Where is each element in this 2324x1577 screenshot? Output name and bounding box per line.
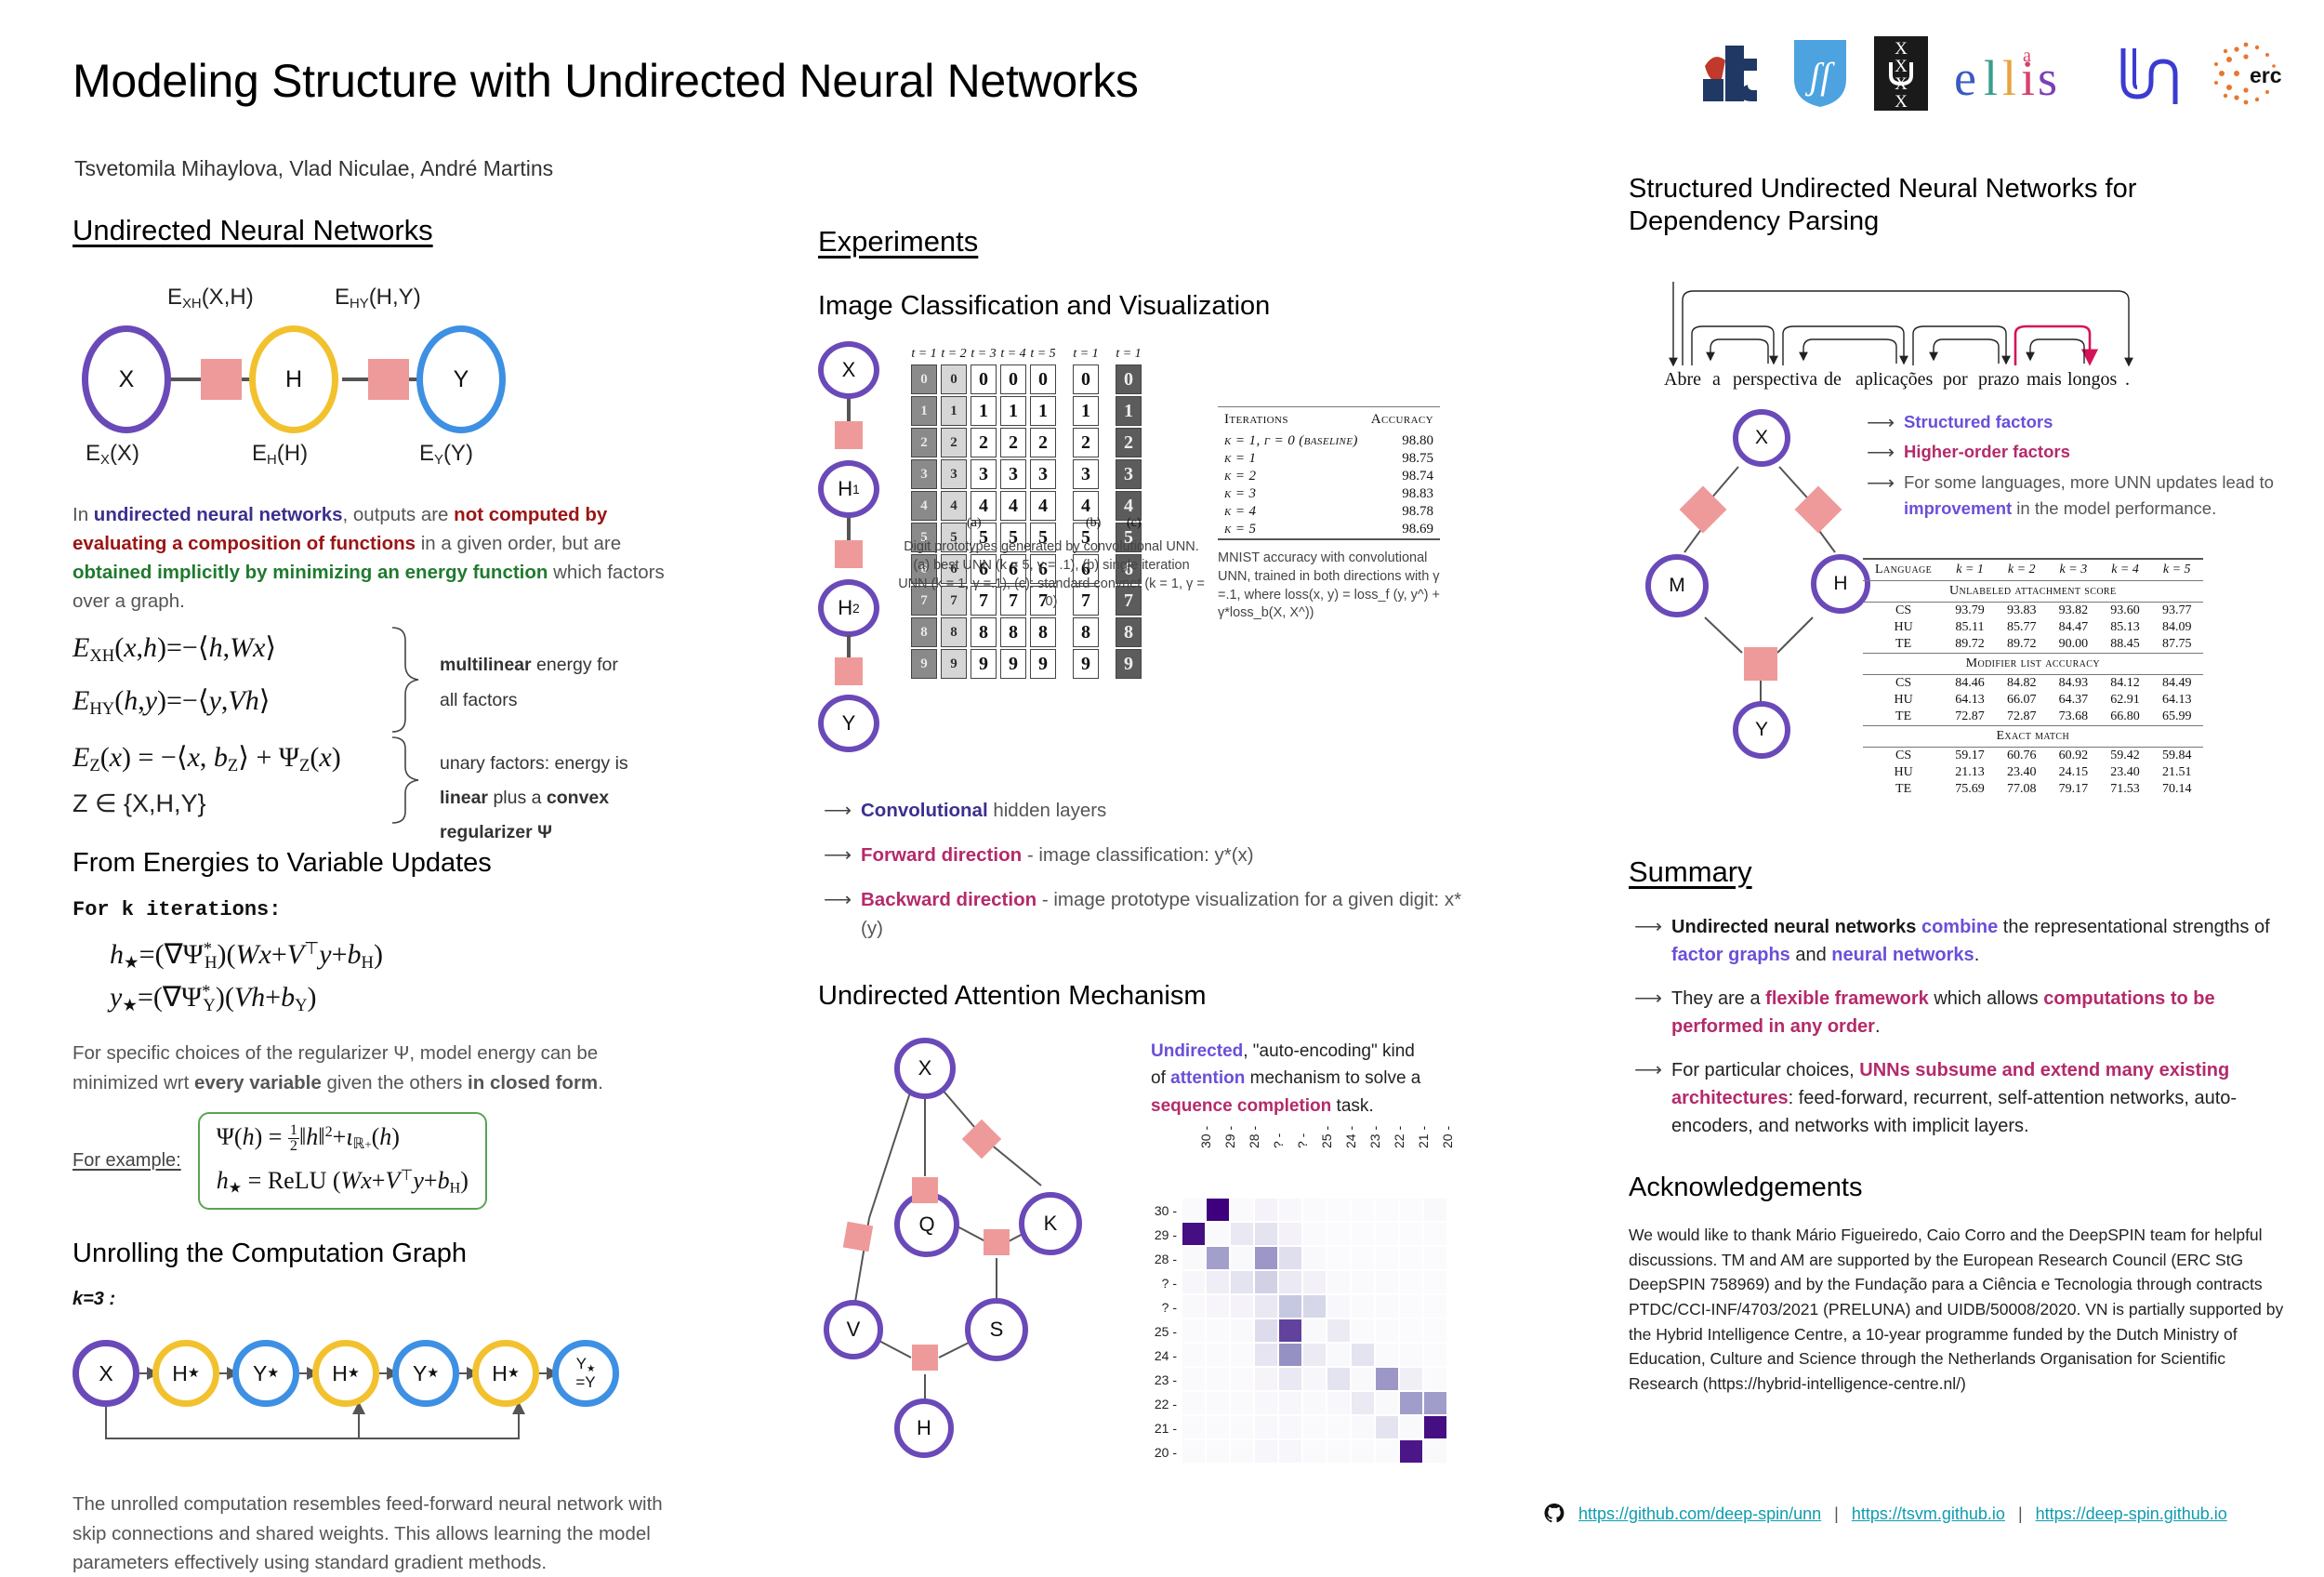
parse-language: HU bbox=[1863, 619, 1944, 636]
unroll-node-4: Y★ bbox=[392, 1340, 459, 1407]
parse-value: 87.75 bbox=[2151, 636, 2203, 654]
parse-value: 62.91 bbox=[2099, 692, 2151, 709]
heatmap-cell bbox=[1352, 1392, 1374, 1414]
mnist-digit-cell: 9 bbox=[1116, 649, 1142, 679]
author-list: Tsvetomila Mihaylova, Vlad Niculae, Andr… bbox=[74, 156, 553, 181]
heatmap-cell bbox=[1376, 1199, 1398, 1221]
parse-value: 93.79 bbox=[1944, 603, 1996, 619]
attn-node-k: K bbox=[1019, 1192, 1082, 1255]
note-line1: unary factors: energy is bbox=[440, 753, 628, 774]
heatmap-cell bbox=[1255, 1295, 1277, 1318]
mnist-digit-cell: 3 bbox=[1030, 459, 1056, 489]
logo-strip: ʃſ X X X X e l l i s bbox=[1694, 35, 2285, 112]
factor-square bbox=[1744, 647, 1777, 681]
parse-language: TE bbox=[1863, 781, 1944, 798]
parse-value: 59.17 bbox=[1944, 748, 1996, 764]
svg-text:X: X bbox=[1895, 57, 1908, 76]
parse-value: 21.13 bbox=[1944, 764, 1996, 781]
heatmap-cell bbox=[1424, 1440, 1446, 1463]
parse-node-m: M bbox=[1645, 554, 1709, 617]
heatmap-cell bbox=[1207, 1223, 1229, 1245]
heatmap-cell bbox=[1207, 1416, 1229, 1438]
parse-value: 59.84 bbox=[2151, 748, 2203, 764]
bullet-item: ⟶Higher-order factors bbox=[1861, 439, 2279, 465]
mnist-digit-cell: 9 bbox=[971, 649, 997, 679]
heatmap-ytick: 25 - bbox=[1151, 1324, 1177, 1339]
heatmap-cell bbox=[1207, 1344, 1229, 1366]
parse-value: 66.80 bbox=[2099, 709, 2151, 726]
chain-factor-graph: X H Y EXH(X,H) EHY(H,Y) EX(X) EH(H) EY(Y… bbox=[73, 272, 742, 495]
summary-bullets: ⟶Undirected neural networks combine the … bbox=[1629, 913, 2289, 1140]
mnist-digit-cell: 8 bbox=[1000, 617, 1026, 647]
brace-note-multilinear: multilinear energy for all factors bbox=[440, 652, 618, 714]
heatmap-cell bbox=[1376, 1319, 1398, 1342]
note-t1: plus a bbox=[488, 788, 547, 808]
dependency-word: Abre bbox=[1664, 369, 1701, 391]
mnist-digit-cell: 0 bbox=[1000, 364, 1026, 394]
node-label: Y bbox=[454, 366, 469, 393]
column-experiments: Experiments Image Classification and Vis… bbox=[818, 214, 1487, 1460]
mnist-digit-cell: 4 bbox=[1030, 491, 1056, 521]
for-k-iterations-label: For k iterations: bbox=[73, 898, 742, 921]
heatmap-cell bbox=[1207, 1271, 1229, 1293]
summary-bullet: ⟶For particular choices, UNNs subsume an… bbox=[1629, 1056, 2289, 1140]
erc-logo: erc bbox=[2209, 36, 2285, 111]
mnist-row: 9999999 bbox=[911, 649, 1142, 679]
edge-label-sub: XH bbox=[182, 297, 202, 311]
heatmap-cell bbox=[1376, 1295, 1398, 1318]
attn-b2: attention bbox=[1170, 1068, 1245, 1088]
svg-text:l: l bbox=[2002, 50, 2016, 106]
heatmap-cell bbox=[1255, 1199, 1277, 1221]
dependency-word: . bbox=[2125, 369, 2130, 391]
heatmap-cell bbox=[1279, 1271, 1301, 1293]
bullet-item: ⟶Convolutional hidden layers bbox=[818, 797, 1469, 826]
heatmap-cell bbox=[1424, 1199, 1446, 1221]
heatmap-cell bbox=[1327, 1223, 1350, 1245]
brace-bottom bbox=[387, 735, 424, 828]
acc-table-row: k = 398.83 bbox=[1218, 485, 1440, 503]
heatmap-cell bbox=[1352, 1440, 1374, 1463]
heatmap-cell bbox=[1255, 1319, 1277, 1342]
mnist-col-label: t = 2 bbox=[941, 347, 967, 362]
heatmap-cell bbox=[1255, 1392, 1277, 1414]
energy-sub: X bbox=[100, 453, 110, 468]
heatmap-cell bbox=[1352, 1271, 1374, 1293]
parse-value: 88.45 bbox=[2099, 636, 2151, 654]
parse-table-row: TE75.6977.0879.1771.5370.14 bbox=[1863, 781, 2203, 798]
column-structured-unn: Structured Undirected Neural Networks fo… bbox=[1629, 214, 2294, 1396]
bullet-bold: Higher-order factors bbox=[1904, 442, 2070, 461]
mnist-digit-cell: 9 bbox=[1000, 649, 1026, 679]
mnist-row: 1111111 bbox=[911, 396, 1142, 426]
svg-text:e: e bbox=[1954, 50, 1976, 106]
mnist-digit-cell: 9 bbox=[1073, 649, 1099, 679]
arrow-icon: ⟶ bbox=[1634, 912, 1662, 942]
summary-bold: factor graphs bbox=[1671, 945, 1790, 965]
parsing-bullets: ⟶Structured factors⟶Higher-order factors… bbox=[1861, 409, 2279, 525]
factor-square bbox=[843, 1222, 873, 1252]
subsection-title-unrolling: Unrolling the Computation Graph bbox=[73, 1238, 742, 1270]
heatmap-cell bbox=[1231, 1392, 1253, 1414]
heatmap-xtick: 24 - bbox=[1343, 1126, 1358, 1148]
dependency-word: prazo bbox=[1978, 369, 2019, 391]
heatmap-cell bbox=[1255, 1271, 1277, 1293]
unrolled-graph: X H★ Y★ H★ Y★ H★ Y★=Y bbox=[73, 1321, 742, 1484]
acc-table-row: k = 1, γ = 0 (baseline)98.80 bbox=[1218, 432, 1440, 450]
mnist-digit-cell: 1 bbox=[941, 396, 967, 426]
parse-value: 85.11 bbox=[1944, 619, 1996, 636]
chain-node-h2: H2 bbox=[818, 579, 879, 637]
heatmap-ytick: 23 - bbox=[1151, 1372, 1177, 1387]
mnist-col-label: t = 3 bbox=[971, 347, 997, 362]
mnist-digit-cell: 8 bbox=[971, 617, 997, 647]
arrow-icon: ⟶ bbox=[824, 885, 852, 915]
parse-value: 71.53 bbox=[2099, 781, 2151, 798]
heatmap-cell bbox=[1327, 1440, 1350, 1463]
heatmap-cell bbox=[1182, 1271, 1205, 1293]
energy-main: E bbox=[252, 441, 267, 466]
parse-value: 64.13 bbox=[2151, 692, 2203, 709]
for-example-label: For example: bbox=[73, 1150, 181, 1172]
bullet-bold: Structured factors bbox=[1904, 412, 2053, 431]
summary-text: . bbox=[1974, 945, 1980, 965]
heatmap-cell bbox=[1327, 1368, 1350, 1390]
chain-node-y: Y bbox=[818, 695, 879, 752]
heatmap-cell bbox=[1207, 1368, 1229, 1390]
heatmap-cell bbox=[1182, 1392, 1205, 1414]
chain-node-h1: H1 bbox=[818, 460, 879, 518]
attn-node-v: V bbox=[824, 1300, 883, 1359]
heatmap-cell bbox=[1231, 1199, 1253, 1221]
mnist-digit-cell: 1 bbox=[1000, 396, 1026, 426]
parse-value: 24.15 bbox=[2048, 764, 2100, 781]
equation-exh: EXH(x,h)=−⟨h,Wx⟩ bbox=[73, 631, 276, 667]
mnist-digit-cell: 0 bbox=[1030, 364, 1056, 394]
heatmap-cell bbox=[1182, 1368, 1205, 1390]
heatmap-cell bbox=[1303, 1295, 1326, 1318]
heatmap-cell bbox=[1400, 1344, 1422, 1366]
unroll-node-0: X bbox=[73, 1340, 139, 1407]
factor-square bbox=[368, 359, 409, 400]
bullet-rest: hidden layers bbox=[988, 800, 1107, 821]
summary-bullet: ⟶They are a flexible framework which all… bbox=[1629, 985, 2289, 1040]
chain-node-x: X bbox=[818, 341, 879, 399]
mnist-group-label: (a) bbox=[967, 516, 982, 531]
note-b3: regularizer Ψ bbox=[440, 819, 552, 845]
parse-table-row: TE72.8772.8773.6866.8065.99 bbox=[1863, 709, 2203, 726]
parse-value: 84.82 bbox=[1996, 675, 2048, 692]
unn-logo bbox=[2116, 36, 2185, 111]
k-equals-3-label: k=3 : bbox=[73, 1289, 742, 1310]
uva-logo: X X X X bbox=[1874, 36, 1928, 111]
heatmap-cell bbox=[1231, 1319, 1253, 1342]
heatmap-cell bbox=[1352, 1247, 1374, 1269]
mnist-digit-cell: 3 bbox=[911, 459, 937, 489]
svg-text:X: X bbox=[1895, 92, 1908, 111]
factor-square bbox=[912, 1345, 938, 1371]
arrow-icon: ⟶ bbox=[1867, 408, 1895, 438]
energy-equations-block: EXH(x,h)=−⟨h,Wx⟩ EHY(h,y)=−⟨y,Vh⟩ EZ(x) … bbox=[73, 631, 742, 827]
acc-value: 98.75 bbox=[1365, 450, 1440, 468]
parse-value: 89.72 bbox=[1944, 636, 1996, 654]
heatmap-xtick: 20 - bbox=[1440, 1126, 1455, 1148]
equation-h-update: h★=(∇Ψ*H)(Wx+V⊤y+bH) bbox=[110, 938, 742, 974]
heatmap-cell bbox=[1231, 1344, 1253, 1366]
heatmap-cell bbox=[1255, 1440, 1277, 1463]
heatmap-cell bbox=[1303, 1392, 1326, 1414]
mnist-digit-cell: 2 bbox=[971, 428, 997, 457]
dependency-word: por bbox=[1943, 369, 1968, 391]
edge-label-ehy: EHY(H,Y) bbox=[335, 285, 421, 311]
link-tsvm[interactable]: https://tsvm.github.io bbox=[1852, 1504, 2005, 1524]
summary-text: the representational strengths of bbox=[1998, 917, 2269, 937]
parse-value: 93.83 bbox=[1996, 603, 2048, 619]
mnist-digit-cell: 0 bbox=[911, 364, 937, 394]
summary-text: and bbox=[1790, 945, 1831, 965]
parse-section-header: Unlabeled attachment score bbox=[1863, 580, 2203, 602]
github-icon bbox=[1543, 1503, 1565, 1525]
heatmap-cell bbox=[1327, 1199, 1350, 1221]
heatmap-cell bbox=[1231, 1271, 1253, 1293]
heatmap-cell bbox=[1376, 1223, 1398, 1245]
parse-section-header: Modifier list accuracy bbox=[1863, 653, 2203, 674]
arrow-icon: ⟶ bbox=[824, 796, 852, 826]
intro-t3: in a given order, but are bbox=[416, 533, 621, 554]
heatmap-xtick: 21 - bbox=[1416, 1126, 1431, 1148]
intro-b1: undirected neural networks bbox=[94, 504, 343, 525]
heatmap-cell bbox=[1424, 1368, 1446, 1390]
heatmap-cell bbox=[1279, 1199, 1301, 1221]
heatmap-cell bbox=[1327, 1319, 1350, 1342]
mnist-digit-cell: 8 bbox=[941, 617, 967, 647]
cf-t3: . bbox=[598, 1072, 603, 1093]
heatmap-cell bbox=[1376, 1392, 1398, 1414]
arrow-icon: ⟶ bbox=[1634, 1055, 1662, 1085]
summary-bold: neural networks bbox=[1831, 945, 1974, 965]
heatmap-cell bbox=[1255, 1247, 1277, 1269]
dependency-word: mais bbox=[2027, 369, 2062, 391]
mnist-digit-cell: 1 bbox=[911, 396, 937, 426]
heatmap-cell bbox=[1424, 1247, 1446, 1269]
summary-bold: Undirected neural networks bbox=[1671, 917, 1916, 937]
arrow-icon: ⟶ bbox=[824, 841, 852, 870]
mnist-digit-cell: 3 bbox=[941, 459, 967, 489]
heatmap-cell bbox=[1376, 1440, 1398, 1463]
acc-value: 98.69 bbox=[1365, 521, 1440, 538]
summary-bold: flexible framework bbox=[1765, 988, 1929, 1009]
parse-col-header: k = 2 bbox=[1996, 560, 2048, 581]
svg-text:erc: erc bbox=[2250, 63, 2282, 87]
mnist-digit-cell: 2 bbox=[1030, 428, 1056, 457]
heatmap-cell bbox=[1279, 1319, 1301, 1342]
bullet-item: ⟶For some languages, more UNN updates le… bbox=[1861, 470, 2279, 522]
graph-node-h: H bbox=[249, 325, 338, 433]
heatmap-cell bbox=[1182, 1440, 1205, 1463]
parse-col-header: Language bbox=[1863, 560, 1944, 581]
link-separator-2: | bbox=[2018, 1504, 2023, 1524]
attn-t3: task. bbox=[1331, 1096, 1373, 1116]
heatmap-ytick: 30 - bbox=[1151, 1203, 1177, 1218]
arrow-icon: ⟶ bbox=[1634, 984, 1662, 1014]
factor-square bbox=[984, 1229, 1010, 1255]
heatmap-ytick: 20 - bbox=[1151, 1445, 1177, 1460]
mnist-caption: Digit prototypes generated by convolutio… bbox=[898, 538, 1205, 611]
parse-value: 85.77 bbox=[1996, 619, 2048, 636]
subsection-title-attention: Undirected Attention Mechanism bbox=[818, 980, 1487, 1013]
parse-node-y: Y bbox=[1733, 701, 1790, 759]
page-title: Modeling Structure with Undirected Neura… bbox=[73, 54, 1139, 108]
mnist-col-label: t = 4 bbox=[1000, 347, 1026, 362]
parse-value: 93.82 bbox=[2048, 603, 2100, 619]
parse-value: 60.92 bbox=[2048, 748, 2100, 764]
mnist-digit-cell: 8 bbox=[1030, 617, 1056, 647]
heatmap-cell bbox=[1327, 1416, 1350, 1438]
note-b1: linear bbox=[440, 788, 488, 808]
dependency-word: longos bbox=[2067, 369, 2117, 391]
parse-value: 84.09 bbox=[2151, 619, 2203, 636]
svg-text:a: a bbox=[2023, 46, 2031, 66]
mnist-digit-cell: 2 bbox=[1000, 428, 1026, 457]
heatmap-cell bbox=[1279, 1440, 1301, 1463]
heatmap-cell bbox=[1352, 1199, 1374, 1221]
brace-note-unary: unary factors: energy is linear plus a c… bbox=[440, 750, 628, 846]
edge-label-sub: HY bbox=[350, 297, 369, 311]
acc-iterations: k = 5 bbox=[1218, 521, 1365, 538]
parse-table-row: HU64.1366.0764.3762.9164.13 bbox=[1863, 692, 2203, 709]
heatmap-cell bbox=[1279, 1392, 1301, 1414]
edge-label-main: E bbox=[335, 285, 350, 310]
heatmap-cell bbox=[1376, 1271, 1398, 1293]
heatmap-cell bbox=[1279, 1223, 1301, 1245]
link-github-unn[interactable]: https://github.com/deep-spin/unn bbox=[1578, 1504, 1821, 1524]
acc-value: 98.78 bbox=[1365, 503, 1440, 521]
heatmap-cell bbox=[1352, 1344, 1374, 1366]
heatmap-cell bbox=[1303, 1440, 1326, 1463]
ist-logo: ʃſ bbox=[1790, 36, 1850, 111]
heatmap-cell bbox=[1303, 1416, 1326, 1438]
parse-value: 84.12 bbox=[2099, 675, 2151, 692]
heatmap-cell bbox=[1376, 1368, 1398, 1390]
parse-value: 60.76 bbox=[1996, 748, 2048, 764]
parse-language: TE bbox=[1863, 709, 1944, 726]
arrow-icon: ⟶ bbox=[1867, 438, 1895, 468]
bullet-item: ⟶Forward direction - image classificatio… bbox=[818, 842, 1469, 870]
heatmap-xtick: 25 - bbox=[1319, 1126, 1334, 1148]
heatmap-cell bbox=[1231, 1416, 1253, 1438]
equation-z-domain: Z ∈ {X,H,Y} bbox=[73, 789, 206, 818]
parse-value: 84.47 bbox=[2048, 619, 2100, 636]
node-energy-label-h: EH(H) bbox=[252, 441, 308, 468]
parse-node-x: X bbox=[1733, 409, 1790, 467]
heatmap-cell bbox=[1231, 1368, 1253, 1390]
attention-figure: X Q K V S H Undirected, "auto-encoding" … bbox=[818, 1032, 1487, 1460]
unroll-node-3: H★ bbox=[312, 1340, 379, 1407]
equation-y-update: y★=(∇Ψ*Y)(Vh+bY) bbox=[110, 981, 742, 1016]
bullet-bold: Convolutional bbox=[861, 800, 988, 821]
heatmap-cell bbox=[1424, 1271, 1446, 1293]
bullet-bold: Forward direction bbox=[861, 844, 1022, 866]
mnist-accuracy-table-wrap: IterationsAccuracyk = 1, γ = 0 (baseline… bbox=[1218, 406, 1450, 622]
heatmap-cell bbox=[1207, 1319, 1229, 1342]
mnist-digit-cell: 8 bbox=[1116, 617, 1142, 647]
heatmap-cell bbox=[1207, 1440, 1229, 1463]
parse-value: 84.46 bbox=[1944, 675, 1996, 692]
heatmap-cell bbox=[1327, 1295, 1350, 1318]
parse-value: 84.93 bbox=[2048, 675, 2100, 692]
acc-table-row: k = 198.75 bbox=[1218, 450, 1440, 468]
heatmap-ytick: 22 - bbox=[1151, 1397, 1177, 1411]
attention-description: Undirected, "auto-encoding" kind of atte… bbox=[1151, 1038, 1430, 1120]
heatmap-cell bbox=[1182, 1416, 1205, 1438]
parsing-results-table: Languagek = 1k = 2k = 3k = 4k = 5Unlabel… bbox=[1863, 558, 2203, 798]
mnist-accuracy-caption: MNIST accuracy with convolutional UNN, t… bbox=[1218, 550, 1450, 622]
heatmap-cell bbox=[1182, 1319, 1205, 1342]
mnist-col-label: t = 1 bbox=[1073, 347, 1099, 362]
note-line2: all factors bbox=[440, 687, 517, 713]
heatmap-cell bbox=[1400, 1199, 1422, 1221]
mnist-group-label: (b) bbox=[1086, 516, 1101, 531]
parse-table-row: CS59.1760.7660.9259.4259.84 bbox=[1863, 748, 2203, 764]
closed-form-paragraph: For specific choices of the regularizer … bbox=[73, 1039, 677, 1096]
svg-text:X: X bbox=[1895, 39, 1908, 59]
heatmap-xtick: 23 - bbox=[1367, 1126, 1382, 1148]
bullet-em: improvement bbox=[1904, 498, 2012, 518]
mnist-digit-cell: 3 bbox=[971, 459, 997, 489]
heatmap-ytick: 28 - bbox=[1151, 1252, 1177, 1266]
mnist-row: 2222222 bbox=[911, 428, 1142, 457]
parse-table-row: TE89.7289.7290.0088.4587.75 bbox=[1863, 636, 2203, 654]
parse-col-header: k = 3 bbox=[2048, 560, 2100, 581]
heatmap-cell bbox=[1182, 1199, 1205, 1221]
parse-language: TE bbox=[1863, 636, 1944, 654]
heatmap-cell bbox=[1400, 1247, 1422, 1269]
dependency-word: a bbox=[1712, 369, 1721, 391]
heatmap-cell bbox=[1279, 1344, 1301, 1366]
heatmap-cell bbox=[1400, 1392, 1422, 1414]
acc-value: 98.74 bbox=[1365, 468, 1440, 485]
parsing-results-block: X M H Y ⟶Structured factors⟶Higher-order… bbox=[1629, 404, 2294, 850]
parse-value: 23.40 bbox=[1996, 764, 2048, 781]
heatmap-cell bbox=[1207, 1295, 1229, 1318]
acknowledgements-text: We would like to thank Mário Figueiredo,… bbox=[1629, 1223, 2289, 1396]
link-deep-spin[interactable]: https://deep-spin.github.io bbox=[2036, 1504, 2227, 1524]
heatmap-ytick: ? - bbox=[1151, 1276, 1177, 1291]
acc-iterations: k = 2 bbox=[1218, 468, 1365, 485]
acc-iterations: k = 3 bbox=[1218, 485, 1365, 503]
brace-top bbox=[387, 626, 424, 737]
cf-t2: given the others bbox=[322, 1072, 468, 1093]
heatmap-cell bbox=[1352, 1295, 1374, 1318]
parsing-results-table-wrap: Languagek = 1k = 2k = 3k = 4k = 5Unlabel… bbox=[1863, 558, 2203, 798]
heatmap-cell bbox=[1400, 1295, 1422, 1318]
bullet-pre: For some languages, more UNN updates lea… bbox=[1904, 472, 2274, 492]
heatmap-cell bbox=[1352, 1416, 1374, 1438]
heatmap-cell bbox=[1303, 1319, 1326, 1342]
mnist-prototype-grid: t = 1t = 2t = 3t = 4t = 5t = 1t = 100000… bbox=[911, 347, 1142, 681]
mnist-digit-cell: 3 bbox=[1000, 459, 1026, 489]
parse-col-header: k = 5 bbox=[2151, 560, 2203, 581]
dependency-word: de bbox=[1824, 369, 1842, 391]
parse-value: 73.68 bbox=[2048, 709, 2100, 726]
mnist-group-label: (c) bbox=[1127, 516, 1142, 531]
mnist-digit-cell: 1 bbox=[1030, 396, 1056, 426]
heatmap-xtick: 29 - bbox=[1222, 1126, 1237, 1148]
unroll-node-1: H★ bbox=[152, 1340, 219, 1407]
parse-section-header-row: Modifier list accuracy bbox=[1863, 653, 2203, 674]
parse-value: 90.00 bbox=[2048, 636, 2100, 654]
heatmap-cell bbox=[1231, 1223, 1253, 1245]
